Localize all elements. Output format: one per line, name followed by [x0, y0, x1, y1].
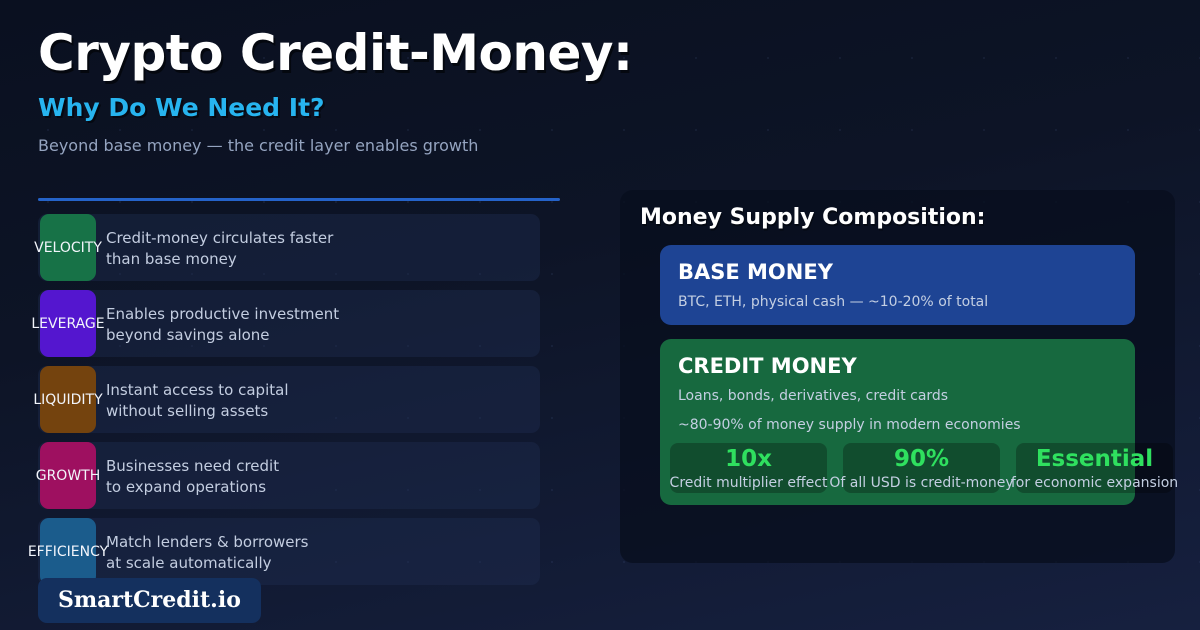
feature-row: LIQUIDITYInstant access to capital witho… [38, 366, 540, 433]
stat-value: 10x [725, 447, 772, 472]
feature-badge-liquidity: LIQUIDITY [40, 366, 96, 433]
feature-badge-efficiency: EFFICIENCY [40, 518, 96, 585]
page-title: Crypto Credit-Money: [38, 26, 658, 80]
feature-badge-leverage: LEVERAGE [40, 290, 96, 357]
feature-badge-velocity: VELOCITY [40, 214, 96, 281]
stat-caption: for economic expansion [1011, 475, 1178, 491]
header: Crypto Credit-Money: Why Do We Need It? … [38, 26, 658, 155]
feature-row: VELOCITYCredit-money circulates faster t… [38, 214, 540, 281]
feature-list: VELOCITYCredit-money circulates faster t… [38, 214, 540, 594]
feature-badge-label: GROWTH [36, 469, 101, 483]
feature-badge-growth: GROWTH [40, 442, 96, 509]
stat-caption: Of all USD is credit-money [829, 475, 1013, 491]
feature-badge-label: LEVERAGE [31, 317, 104, 331]
stat-value: 90% [894, 447, 949, 472]
base-money-description: BTC, ETH, physical cash — ~10-20% of tot… [678, 292, 1117, 312]
feature-badge-label: VELOCITY [34, 241, 102, 255]
feature-description: Businesses need credit to expand operati… [106, 456, 279, 497]
credit-money-title: CREDIT MONEY [678, 355, 1117, 378]
brand-badge: SmartCredit.io [38, 578, 261, 623]
page-subtitle: Why Do We Need It? [38, 93, 658, 122]
header-divider [38, 198, 560, 201]
feature-row: LEVERAGEEnables productive investment be… [38, 290, 540, 357]
credit-stats: 10xCredit multiplier effect90%Of all USD… [670, 443, 1173, 493]
credit-money-description: Loans, bonds, derivatives, credit cards [678, 386, 1117, 406]
credit-money-card: CREDIT MONEY Loans, bonds, derivatives, … [660, 339, 1135, 505]
base-money-title: BASE MONEY [678, 261, 1117, 284]
page-tagline: Beyond base money — the credit layer ena… [38, 136, 658, 155]
stat-caption: Credit multiplier effect [670, 475, 828, 491]
stat-value: Essential [1036, 447, 1153, 472]
feature-description: Credit-money circulates faster than base… [106, 228, 333, 269]
feature-row: EFFICIENCYMatch lenders & borrowers at s… [38, 518, 540, 585]
stat-box: Essentialfor economic expansion [1016, 443, 1173, 493]
feature-badge-label: EFFICIENCY [28, 545, 108, 559]
stat-box: 90%Of all USD is credit-money [843, 443, 1000, 493]
feature-description: Match lenders & borrowers at scale autom… [106, 532, 309, 573]
stat-box: 10xCredit multiplier effect [670, 443, 827, 493]
base-money-card: BASE MONEY BTC, ETH, physical cash — ~10… [660, 245, 1135, 325]
feature-description: Instant access to capital without sellin… [106, 380, 288, 421]
credit-money-share: ~80-90% of money supply in modern econom… [678, 415, 1117, 435]
feature-description: Enables productive investment beyond sav… [106, 304, 339, 345]
feature-row: GROWTHBusinesses need credit to expand o… [38, 442, 540, 509]
panel-heading: Money Supply Composition: [640, 205, 985, 230]
feature-badge-label: LIQUIDITY [33, 393, 102, 407]
